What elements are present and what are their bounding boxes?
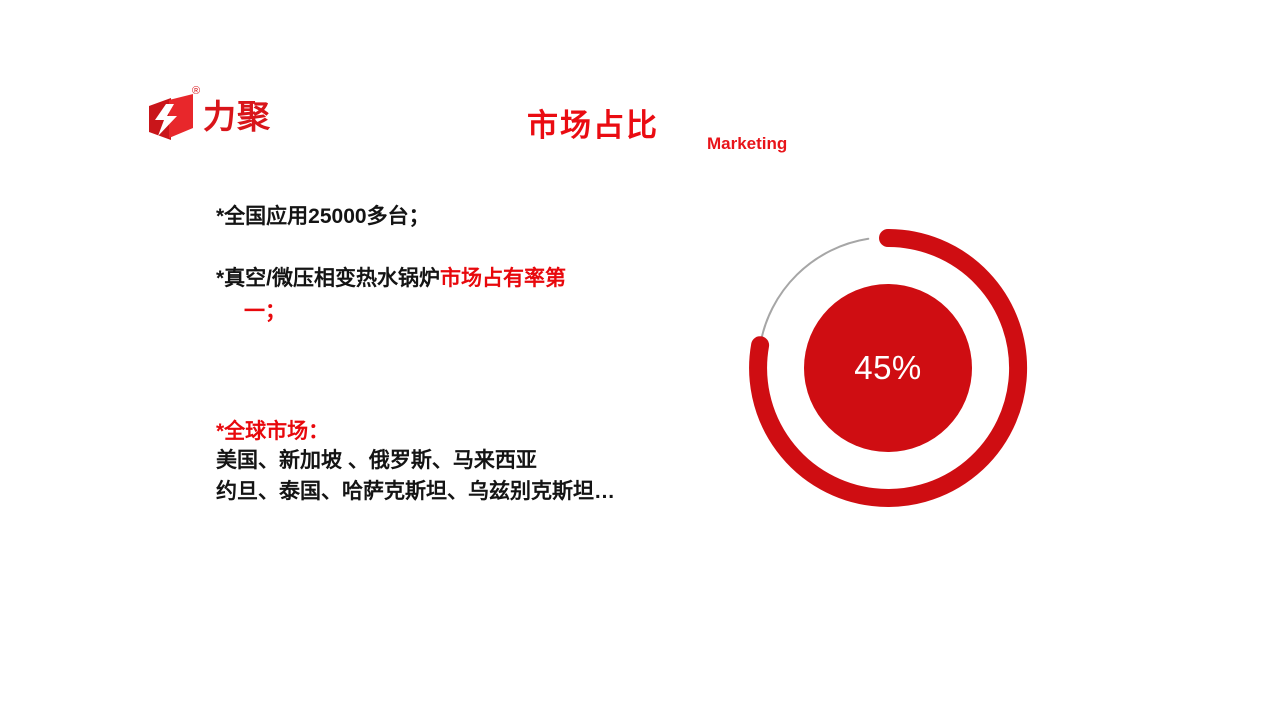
lightning-bolt-icon (147, 94, 197, 142)
bullet-text-highlight-wrap: 一； (216, 296, 736, 329)
market-share-donut-chart: 45% (752, 232, 1024, 504)
global-market-line-2: 约旦、泰国、哈萨克斯坦、乌兹别克斯坦… (216, 477, 776, 507)
bullet-item-units: *全国应用25000多台； (216, 206, 736, 227)
bullet-list: *全国应用25000多台； *真空/微压相变热水锅炉市场占有率第一； (216, 206, 736, 364)
company-logo: ® 力聚 (147, 86, 407, 148)
registered-trademark-icon: ® (192, 86, 200, 97)
bullet-text-highlight: 市场占有率第 (440, 267, 566, 290)
global-market-block: *全球市场： 美国、新加坡 、俄罗斯、马来西亚 约旦、泰国、哈萨克斯坦、乌兹别克… (216, 418, 776, 507)
slide-canvas: ® 力聚 市场占比 Marketing *全国应用25000多台； *真空/微压… (0, 0, 1280, 720)
global-market-line-1: 美国、新加坡 、俄罗斯、马来西亚 (216, 446, 776, 476)
bullet-item-market-share: *真空/微压相变热水锅炉市场占有率第一； (216, 263, 736, 328)
bullet-text-black: *真空/微压相变热水锅炉 (216, 267, 440, 290)
donut-center-disc (804, 284, 972, 452)
logo-wordmark: 力聚 (203, 100, 271, 133)
page-subtitle: Marketing (707, 135, 787, 152)
global-market-heading: *全球市场： (216, 418, 776, 446)
page-title: 市场占比 (527, 110, 659, 141)
